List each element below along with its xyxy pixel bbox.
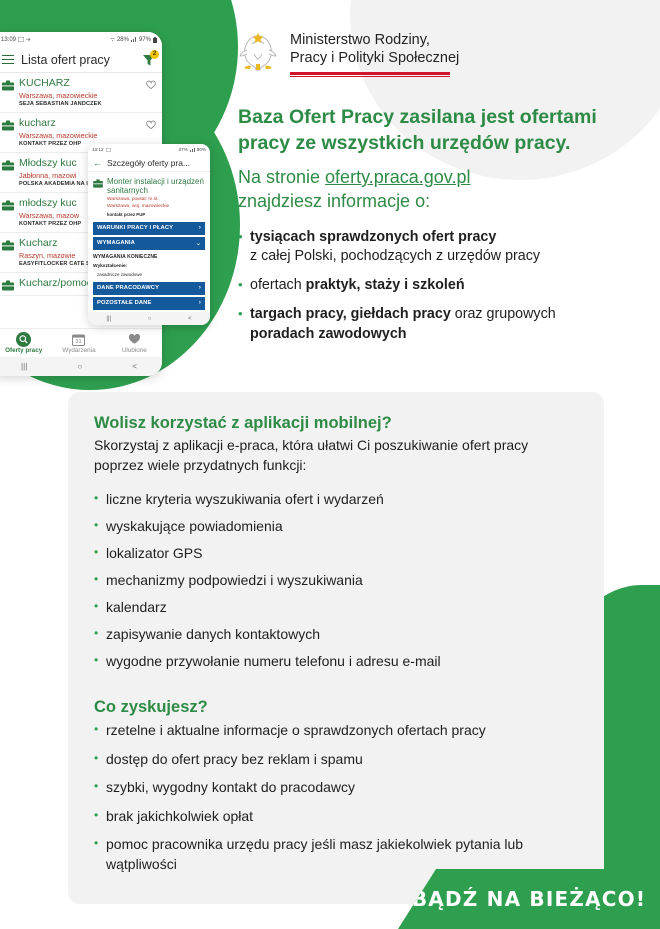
system-navigation-bar[interactable]: ||| ○ < — [0, 357, 162, 376]
briefcase-icon — [2, 240, 14, 251]
chevron-right-icon: › — [199, 285, 201, 291]
status-battery-percent: 90% — [197, 147, 206, 152]
hero-sub-suffix: znajdziesz informacje o: — [238, 191, 430, 211]
card-lead-text: Skorzystaj z aplikacji e-praca, która uł… — [94, 436, 578, 476]
nav-label: Ulubione — [108, 347, 160, 354]
app-bar-title: Szczegóły oferty pra... — [107, 158, 190, 168]
job-employer: SEJA SEBASTIAN JANDCZEK — [19, 101, 141, 108]
heart-icon[interactable] — [146, 80, 156, 90]
polish-eagle-emblem-icon — [236, 30, 280, 80]
list-item: liczne kryteria wyszukiwania ofert i wyd… — [94, 490, 578, 510]
card-title: Co zyskujesz? — [94, 698, 578, 717]
education-label: Wykształcenie: — [93, 264, 205, 269]
job-title: kucharz — [19, 118, 141, 130]
hero-bullet-list: tysiącach sprawdzonych ofert pracy z cał… — [238, 228, 650, 345]
list-item: targach pracy, giełdach pracy oraz grupo… — [238, 305, 650, 344]
briefcase-icon — [2, 280, 14, 291]
footer-banner: BĄDŹ NA BIEŻĄCO! — [398, 869, 660, 929]
list-item: lokalizator GPS — [94, 544, 578, 564]
ministry-name-line2: Pracy i Polityki Społecznej — [290, 50, 459, 68]
section-label: WARUNKI PRACY I PŁACY — [97, 225, 173, 231]
status-signal-percent: 28% — [117, 37, 129, 43]
list-item: wygodne przywołanie numeru telefonu i ad… — [94, 652, 578, 672]
list-item: szybki, wygodny kontakt do pracodawcy — [94, 778, 578, 798]
bullet-plain-text: z całej Polski, pochodzących z urzędów p… — [250, 248, 540, 264]
list-item: mechanizmy podpowiedzi i wyszukiwania — [94, 571, 578, 591]
section-requirements[interactable]: WYMAGANIA ⌄ — [93, 237, 205, 250]
recents-button[interactable]: ||| — [106, 316, 111, 322]
section-other-data[interactable]: POZOSTAŁE DANE › — [93, 297, 205, 310]
offer-contact-note: kontakt przez PUP — [107, 212, 205, 217]
footer-banner-text: BĄDŹ NA BIEŻĄCO! — [412, 887, 646, 911]
list-item: zapisywanie danych kontaktowych — [94, 625, 578, 645]
hero-subtitle: Na stronie oferty.praca.gov.pl znajdzies… — [238, 166, 650, 214]
job-location: Warszawa, mazowieckie — [19, 131, 141, 140]
app-bar: ← Szczegóły oferty pra... — [88, 155, 210, 172]
app-bar-title: Lista ofert pracy — [21, 53, 135, 67]
phone-mockup-offer-detail: 13:12 27% 90% ← Szczegóły oferty pra... … — [88, 144, 210, 325]
calendar-icon: 31 — [53, 332, 105, 346]
section-employer-data[interactable]: DANE PRACODAWCY › — [93, 282, 205, 295]
home-button[interactable]: ○ — [148, 316, 152, 322]
briefcase-icon — [93, 179, 103, 188]
offer-title: Monter instalacji i urządzeń sanitarnych — [107, 177, 205, 196]
briefcase-icon — [2, 80, 14, 91]
bullet-plain-text: oraz grupowych — [451, 306, 556, 322]
section-label: WYMAGANIA — [97, 240, 135, 246]
status-time: 13:12 — [92, 147, 104, 152]
website-link[interactable]: oferty.praca.gov.pl — [325, 167, 470, 187]
list-item: kalendarz — [94, 598, 578, 618]
nav-label: Oferty pracy — [0, 347, 50, 354]
briefcase-icon — [2, 160, 14, 171]
status-bar: 13:12 27% 90% — [88, 144, 210, 155]
bullet-bold-text: tysiącach sprawdzonych ofert pracy — [250, 229, 496, 245]
status-signal-percent: 27% — [179, 147, 188, 152]
benefits-list: rzetelne i aktualne informacje o sprawdz… — [94, 721, 578, 875]
bullet-bold-text: targach pracy, giełdach pracy — [250, 306, 451, 322]
chevron-right-icon: › — [199, 300, 201, 306]
search-icon — [0, 332, 50, 346]
list-item: dostęp do ofert pracy bez reklam i spamu — [94, 750, 578, 770]
wifi-icon — [110, 37, 115, 42]
section-label: POZOSTAŁE DANE — [97, 300, 151, 306]
section-work-conditions[interactable]: WARUNKI PRACY I PŁACY › — [93, 222, 205, 235]
flag-rule — [290, 72, 450, 75]
image-icon — [18, 37, 24, 42]
list-item: tysiącach sprawdzonych ofert pracy z cał… — [238, 228, 650, 267]
ministry-logo: Ministerstwo Rodziny, Pracy i Polityki S… — [236, 30, 459, 80]
list-item: ofertach praktyk, staży i szkoleń — [238, 276, 650, 296]
status-time: 13:09 — [1, 37, 16, 43]
offer-location-line1: Warszawa, powiat: m.st. — [107, 197, 205, 203]
flag-rule-thin — [290, 76, 450, 77]
bullet-plain-text: ofertach — [250, 277, 306, 293]
home-button[interactable]: ○ — [77, 362, 82, 371]
heart-icon[interactable] — [146, 120, 156, 130]
education-value: zasadnicze zawodowe — [97, 272, 205, 277]
back-arrow-icon[interactable]: ← — [93, 159, 102, 168]
signal-bars-icon — [131, 37, 137, 42]
nav-item-job-offers[interactable]: Oferty pracy — [0, 332, 50, 354]
section-label: DANE PRACODAWCY — [97, 285, 159, 291]
list-item: brak jakichkolwiek opłat — [94, 807, 578, 827]
svg-text:31: 31 — [76, 339, 82, 345]
nav-item-favourites[interactable]: Ulubione — [108, 332, 160, 354]
job-title: KUCHARZ — [19, 78, 141, 90]
offer-header: Monter instalacji i urządzeń sanitarnych… — [88, 172, 210, 220]
back-button[interactable]: < — [188, 316, 192, 322]
app-features-list: liczne kryteria wyszukiwania ofert i wyd… — [94, 490, 578, 672]
system-navigation-bar[interactable]: ||| ○ < — [88, 312, 210, 325]
job-location: Warszawa, mazowieckie — [19, 91, 141, 100]
back-button[interactable]: < — [132, 362, 137, 371]
bullet-bold-text-2: poradach zawodowych — [250, 326, 407, 342]
ministry-name-line1: Ministerstwo Rodziny, — [290, 32, 459, 50]
nav-label: Wydarzenia — [53, 347, 105, 354]
arrow-icon — [26, 37, 31, 42]
bullet-bold-text: praktyk, staży i szkoleń — [306, 277, 465, 293]
list-item[interactable]: KUCHARZ Warszawa, mazowieckie SEJA SEBAS… — [0, 73, 162, 113]
filter-icon[interactable]: 2 — [142, 53, 156, 67]
chevron-down-icon: ⌄ — [196, 240, 201, 247]
signal-bars-icon — [190, 148, 195, 152]
hero-section: Baza Ofert Pracy zasilana jest ofertami … — [238, 105, 650, 353]
list-item: pomoc pracownika urzędu pracy jeśli masz… — [94, 835, 578, 874]
status-bar: 13:09 28% 97% — [0, 32, 162, 47]
list-item: wyskakujące powiadomienia — [94, 517, 578, 537]
app-bar: Lista ofert pracy 2 — [0, 47, 162, 73]
recents-button[interactable]: ||| — [21, 362, 27, 371]
briefcase-icon — [2, 200, 14, 211]
list-item: rzetelne i aktualne informacje o sprawdz… — [94, 721, 578, 741]
nav-item-events[interactable]: 31 Wydarzenia — [53, 332, 105, 354]
briefcase-icon — [2, 120, 14, 131]
filter-badge-count: 2 — [150, 50, 159, 59]
page-title: Baza Ofert Pracy zasilana jest ofertami … — [238, 105, 650, 157]
card-title: Wolisz korzystać z aplikacji mobilnej? — [94, 414, 578, 433]
card-mobile-app: Wolisz korzystać z aplikacji mobilnej? S… — [68, 392, 604, 699]
image-icon — [106, 148, 111, 152]
bottom-navigation-bar[interactable]: Oferty pracy 31 Wydarzenia Ulubione — [0, 328, 162, 357]
offer-location-line2: Warszawa, woj. mazowieckie — [107, 204, 205, 210]
requirements-heading: WYMAGANIA KONIECZNE — [93, 254, 205, 260]
heart-icon — [108, 332, 160, 346]
status-battery-percent: 97% — [139, 37, 151, 43]
hero-sub-prefix: Na stronie — [238, 167, 325, 187]
chevron-right-icon: › — [199, 225, 201, 231]
hamburger-menu-icon[interactable] — [2, 55, 14, 65]
battery-icon — [153, 37, 157, 43]
